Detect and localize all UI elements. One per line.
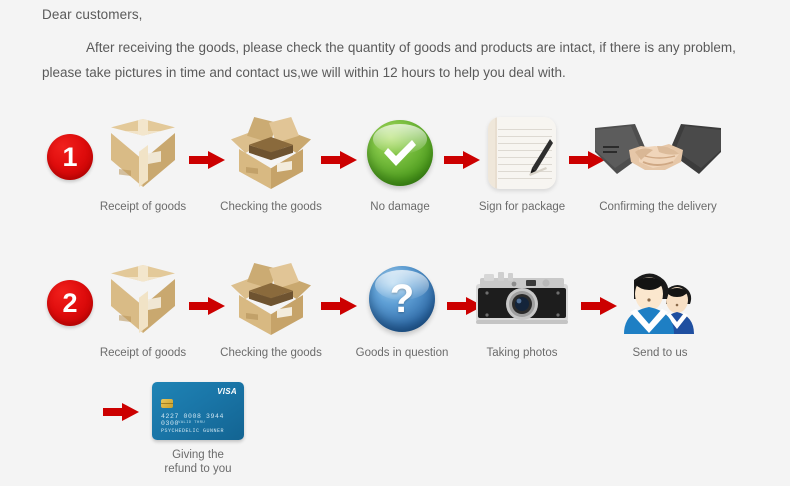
visa-logo: VISA	[217, 387, 237, 396]
arrow-right-icon	[443, 150, 481, 170]
step-label: Sign for package	[479, 200, 565, 214]
closed-box-icon	[107, 112, 179, 194]
step-badge-2: 2	[47, 280, 93, 326]
refund-label: Giving the refund to you	[164, 448, 231, 476]
green-check-circle-icon	[367, 112, 433, 194]
step-confirming-the-delivery: Confirming the delivery	[594, 112, 722, 214]
step-label: Receipt of goods	[100, 346, 186, 360]
refund-label-line2: refund to you	[164, 463, 231, 475]
step-label: Receipt of goods	[100, 200, 186, 214]
card-holder-name: PSYCHEDELIC GUNNER	[161, 428, 224, 434]
step-label: Goods in question	[356, 346, 449, 360]
step-send-to-us: Send to us	[614, 258, 706, 360]
arrow-right-icon	[320, 150, 358, 170]
open-box-icon	[231, 258, 311, 340]
step-no-damage: No damage	[362, 112, 438, 214]
step-label: Send to us	[633, 346, 688, 360]
refund-label-line1: Giving the	[172, 449, 224, 461]
arrow-right-icon	[580, 296, 618, 316]
step-receipt-of-goods-1: Receipt of goods	[105, 112, 181, 214]
step-label: Taking photos	[487, 346, 558, 360]
intro-block: Dear customers, After receiving the good…	[42, 4, 742, 85]
intro-body: After receiving the goods, please check …	[42, 35, 742, 85]
notepad-pen-icon	[488, 112, 556, 194]
arrow-right-icon	[188, 150, 226, 170]
step-receipt-of-goods-2: Receipt of goods	[105, 258, 181, 360]
step-goods-in-question: ? Goods in question	[362, 258, 442, 360]
step-label: Checking the goods	[220, 200, 322, 214]
blue-question-circle-icon: ?	[369, 258, 435, 340]
step-checking-the-goods-2: Checking the goods	[230, 258, 312, 360]
step-taking-photos: Taking photos	[470, 258, 574, 360]
question-mark-glyph: ?	[369, 266, 435, 332]
step-label: No damage	[370, 200, 429, 214]
open-box-icon	[231, 112, 311, 194]
users-icon	[614, 258, 706, 340]
credit-card-icon: VISA 4227 0008 3944 0300 VALID THRU PSYC…	[152, 380, 244, 442]
step-label: Confirming the delivery	[599, 200, 717, 214]
arrow-right-icon	[102, 402, 140, 422]
intro-greeting: Dear customers,	[42, 4, 742, 26]
closed-box-icon	[107, 258, 179, 340]
step-checking-the-goods-1: Checking the goods	[230, 112, 312, 214]
step-label: Checking the goods	[220, 346, 322, 360]
step-sign-for-package: Sign for package	[482, 112, 562, 214]
camera-icon	[470, 258, 574, 340]
handshake-icon	[595, 112, 721, 194]
step-badge-1: 1	[47, 134, 93, 180]
arrow-right-icon	[188, 296, 226, 316]
step-giving-the-refund: VISA 4227 0008 3944 0300 VALID THRU PSYC…	[152, 380, 244, 476]
arrow-right-icon	[320, 296, 358, 316]
card-chip-icon	[161, 399, 173, 408]
card-valid-thru: VALID THRU	[178, 421, 205, 425]
